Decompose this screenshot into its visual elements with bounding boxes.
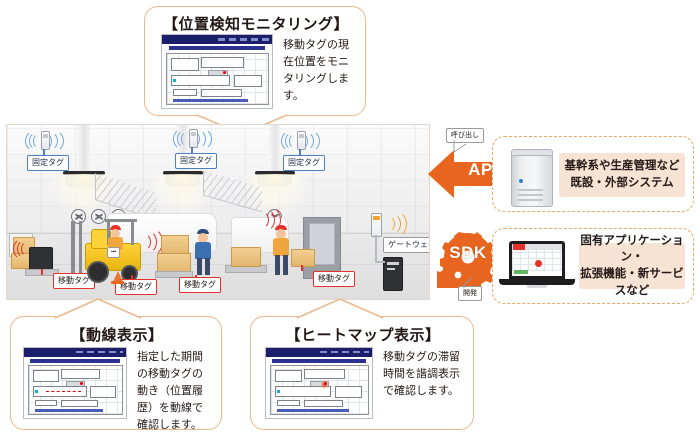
forklift-roof-post	[131, 221, 134, 245]
server-slot	[517, 189, 543, 191]
screenshot-titlebar	[162, 35, 272, 44]
signal-wave-icon	[17, 239, 35, 257]
api-panel-line1: 基幹系や生産管理など	[565, 160, 680, 172]
scene-box	[231, 247, 261, 267]
floorplan-room	[201, 57, 243, 68]
callout-heatmap-text: 移動タグの滞留時間を諧調表示で確認します。	[383, 349, 461, 400]
floorplan-footer	[35, 409, 104, 412]
scene-pillar	[77, 125, 90, 177]
scene-box	[157, 253, 191, 273]
callout-monitoring-title: 【位置検知モニタリング】	[145, 13, 367, 34]
flowline-path	[46, 391, 81, 392]
screenshot-titlebar	[24, 348, 126, 357]
scene-pillar	[269, 125, 280, 177]
floorplan-room	[275, 370, 302, 383]
callout-flowline: 【動線表示】 指定した期間の移動タグの動き（位置履歴）を動線で確認します。	[10, 316, 222, 430]
gateway-cable	[375, 261, 385, 263]
signal-wave-icon	[381, 211, 401, 231]
callout-monitoring: 【位置検知モニタリング】 移動タグの現在位置をモニタリングします。	[144, 6, 366, 116]
titlebar-menu-dots	[76, 351, 123, 354]
forklift-roof	[105, 219, 137, 222]
callout-monitoring-text: 移動タグの現在位置をモニタリングします。	[283, 37, 353, 105]
floorplan-room	[173, 89, 197, 96]
gateway-cable	[375, 235, 377, 263]
laptop-notch	[527, 285, 547, 288]
floorplan-room	[61, 400, 98, 408]
titlebar-menu-dots	[218, 38, 269, 41]
sdk-panel-line1: 固有アプリケーション・	[580, 235, 683, 264]
screenshot-toolbar	[169, 46, 266, 50]
traffic-cone-base	[111, 281, 124, 284]
callout-heatmap-tail	[297, 297, 383, 319]
server-slot	[517, 199, 543, 201]
forklift-mast	[71, 221, 75, 273]
callout-flowline-text: 指定した期間の移動タグの動き（位置履歴）を動線で確認します。	[137, 349, 213, 434]
tag-marker	[35, 390, 38, 393]
floorplan	[270, 365, 369, 415]
api-panel-text: 基幹系や生産管理など 既設・外部システム	[559, 153, 685, 197]
floorplan	[28, 365, 123, 415]
callout-heatmap: 【ヒートマップ表示】 移動タグの滞留時間を諧調表示で確認します。	[250, 316, 474, 430]
tag-marker	[173, 79, 176, 82]
floorplan-room	[201, 89, 241, 97]
forklift-wheel	[87, 261, 109, 283]
forklift-mast	[79, 221, 82, 273]
signal-wave-icon	[48, 131, 66, 149]
signal-wave-icon	[253, 207, 273, 227]
tag-marker	[277, 390, 280, 393]
api-panel-line2: 既設・外部システム	[570, 177, 673, 189]
callout-flowline-tail	[55, 297, 141, 319]
floorplan-room	[335, 386, 362, 398]
floorplan-room	[277, 400, 300, 407]
sdk-badge-label: SDK	[437, 243, 499, 263]
fixed-tag-label: 固定タグ	[27, 155, 69, 171]
sdk-dev-leader	[460, 276, 476, 294]
floorplan-room	[90, 386, 116, 398]
titlebar-menu-dots	[320, 351, 369, 354]
warehouse-scene: 固定タグ 固定タグ 固定タグ 移動タグ	[6, 124, 430, 300]
fixed-tag-label: 固定タグ	[283, 155, 325, 171]
mobile-tag-label: 移動タグ	[313, 271, 355, 287]
scene-box	[161, 235, 189, 255]
floorplan-footer	[277, 409, 349, 412]
screenshot-titlebar	[266, 348, 372, 357]
monitoring-screenshot	[161, 34, 273, 109]
floorplan-room	[171, 58, 199, 71]
forklift-display: ▪▪▪	[107, 247, 120, 258]
fixed-tag-label: 固定タグ	[175, 153, 217, 169]
screenshot-toolbar	[272, 359, 365, 363]
laptop-screen-content	[512, 244, 562, 276]
api-panel: 基幹系や生産管理など 既設・外部システム	[492, 136, 694, 212]
screenshot-toolbar	[30, 359, 120, 363]
scene-worker	[193, 229, 213, 275]
signal-wave-icon	[135, 229, 155, 249]
server-slot	[517, 194, 543, 196]
floorplan-room	[304, 369, 345, 380]
floorplan-room	[61, 369, 100, 380]
scene-box	[291, 249, 315, 267]
mobile-tag-label: 移動タグ	[179, 277, 221, 293]
sdk-panel-text: 固有アプリケーション・ 拡張機能・新サービスなど	[579, 243, 685, 289]
api-call-leader	[452, 140, 472, 159]
floorplan-footer	[173, 99, 247, 103]
floorplan-room	[234, 75, 262, 87]
callout-flowline-title: 【動線表示】	[11, 324, 223, 345]
floorplan-room	[35, 400, 57, 407]
flowline-screenshot	[23, 347, 127, 419]
gateway-receiver	[383, 257, 403, 291]
sdk-panel: 固有アプリケーション・ 拡張機能・新サービスなど	[492, 228, 694, 304]
floorplan-room	[304, 400, 343, 408]
tag-leader-line	[301, 265, 303, 271]
tag-leader-line	[41, 269, 43, 275]
callout-heatmap-title: 【ヒートマップ表示】	[251, 324, 475, 345]
heatmap-screenshot	[265, 347, 373, 419]
floorplan-room	[171, 75, 229, 86]
tag-marker	[223, 71, 226, 74]
floorplan-room	[33, 370, 59, 383]
gateway-tag-label: ゲートウェイタグ	[383, 237, 430, 253]
sdk-panel-line2: 拡張機能・新サービスなど	[580, 268, 684, 297]
floorplan	[166, 53, 268, 106]
fan-icon	[91, 209, 106, 224]
signal-wave-icon	[196, 129, 214, 147]
server-led	[519, 179, 523, 183]
signal-wave-icon	[304, 131, 322, 149]
